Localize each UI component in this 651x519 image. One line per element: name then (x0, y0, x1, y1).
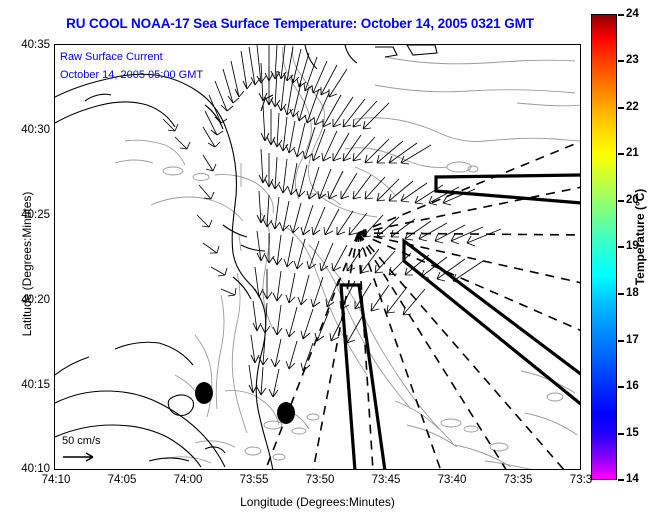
colorbar-tick (618, 246, 624, 248)
colorbar-tick-label: 17 (626, 334, 639, 346)
colorbar-tick-label: 15 (626, 427, 639, 439)
x-tick-label: 73:50 (306, 474, 335, 486)
colorbar-tick-label: 16 (626, 380, 639, 392)
x-axis-title: Longitude (Degrees:Minutes) (54, 495, 581, 509)
x-tick-label: 74:00 (174, 474, 203, 486)
colorbar-tick-label: 23 (626, 54, 639, 66)
colorbar-tick (618, 433, 624, 435)
colorbar-tick-label: 20 (626, 194, 639, 206)
colorbar-tick-label: 22 (626, 101, 639, 113)
colorbar-tick-label: 19 (626, 240, 639, 252)
y-axis-title: Latitude (Degrees:Minutes) (20, 154, 34, 374)
scale-bar-label: 50 cm/s (62, 435, 101, 447)
colorbar (591, 14, 617, 480)
right-arrow-icon (63, 453, 93, 461)
x-tick-label: 74:05 (108, 474, 137, 486)
y-tick-label: 40:35 (10, 39, 50, 51)
colorbar-tick (618, 293, 624, 295)
x-tick-label: 73:55 (240, 474, 269, 486)
colorbar-tick (618, 340, 624, 342)
figure-root: RU COOL NOAA-17 Sea Surface Temperature:… (0, 0, 651, 519)
x-tick-label: 73:40 (438, 474, 467, 486)
x-tick-label: 73:45 (372, 474, 401, 486)
colorbar-tick-label: 24 (626, 8, 639, 20)
annotation-line-1: Raw Surface Current (60, 51, 163, 63)
map-canvas (55, 45, 581, 470)
station-marker (195, 382, 213, 404)
colorbar-tick-label: 18 (626, 287, 639, 299)
x-tick-label: 74:10 (42, 474, 71, 486)
colorbar-tick (618, 386, 624, 388)
colorbar-tick-label: 14 (626, 473, 639, 485)
y-tick-label: 40:30 (10, 124, 50, 136)
colorbar-tick (618, 107, 624, 109)
colorbar-tick (618, 200, 624, 202)
x-tick-label: 73:3 (570, 474, 592, 486)
figure-title: RU COOL NOAA-17 Sea Surface Temperature:… (0, 16, 600, 31)
colorbar-tick (618, 14, 624, 16)
station-marker (277, 402, 295, 424)
colorbar-tick-label: 21 (626, 147, 639, 159)
radar-coverage-wedges (341, 175, 581, 470)
colorbar-tick (618, 153, 624, 155)
map-plot-area (54, 44, 581, 470)
surface-current-vectors (163, 45, 501, 397)
annotation-line-2: October 14, 2005 05:00 GMT (60, 69, 203, 81)
x-tick-label: 73:35 (504, 474, 533, 486)
y-tick-label: 40:10 (10, 463, 50, 475)
colorbar-tick (618, 60, 624, 62)
y-tick-label: 40:15 (10, 379, 50, 391)
colorbar-tick (618, 479, 624, 481)
bathymetry-contours (115, 45, 581, 470)
